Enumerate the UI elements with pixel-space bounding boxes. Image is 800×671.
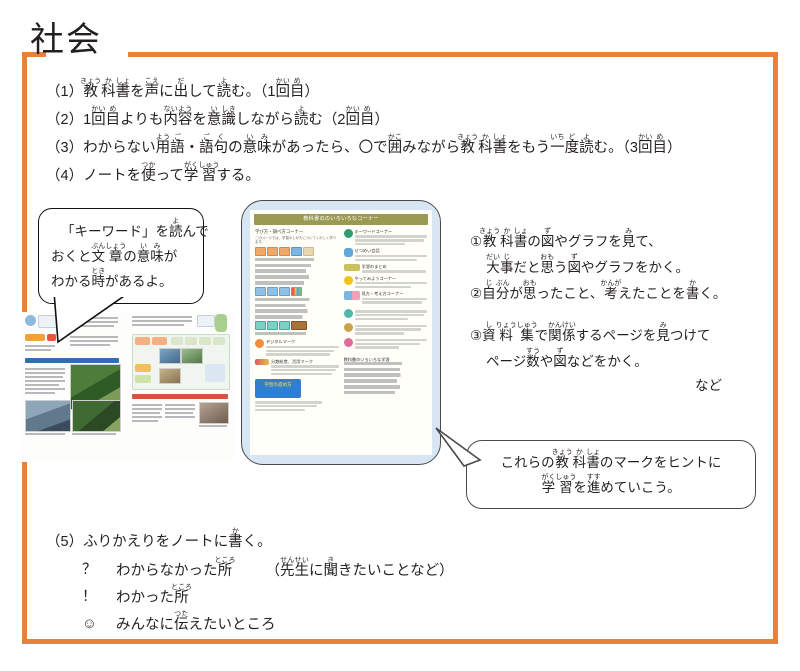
body-text-line [132,316,192,318]
corner-body [271,373,332,375]
tag-row [255,321,339,330]
ruby-kai2: 回かい [91,112,106,128]
ruby-ji2: 自じ [482,286,496,301]
reflection-section: （5）ふりかえりをノートに書かく。 ？ わからなかった所ところ （先せん生せいに… [46,528,606,638]
ruby-nai: 内ない [163,112,178,128]
body-text-line [25,392,55,394]
body-text-line [25,380,65,382]
ruby-shuu: 習しゅう [198,168,216,184]
toc-line [344,385,424,389]
contents-left-column: 学び方・調べ方コーナー このページでは、学習のしかたについてくわしく学べます。 [255,229,339,411]
ruby-ku: 句く [214,140,229,156]
step-line-1: （1）教きょう科か書しょを声こえに出だして読よむ。（1回かい目め） [46,78,760,106]
corner-text [355,309,428,320]
brown-icon [291,321,307,330]
ruby-zu2: 図ず [568,260,582,275]
orange-tag [303,247,314,256]
sdgs-icon [255,359,269,365]
note-line-3b: ページ数すうや図ずなどをかく。 [470,348,770,374]
information-icon [344,338,353,347]
diagram-node [185,337,197,345]
diagram-photo [159,368,181,384]
body-text-line [132,324,184,326]
contents-columns: 学び方・調べ方コーナー このページでは、学習のしかたについてくわしく学べます。 [250,225,432,411]
ruby-shuu3: 習しゅう [555,480,573,495]
corner-item: 分散給食、活用マーク [255,359,339,375]
corner-item: デジタルマーク [255,339,339,355]
ruby-ichi: 一いち [550,140,565,156]
reflection-label-share: みんなに伝つたえたいところ [116,611,276,638]
blue-tag [255,287,266,296]
diagram-node [152,337,167,345]
contents-left-sub: このページでは、学習のしかたについてくわしく学べます。 [255,236,339,245]
corner-body [355,282,428,284]
corner-text: 学習のまとめ [362,264,428,273]
ruby-mi4: 見み [656,328,670,343]
keyword-corner-icon [344,229,353,238]
diagram-node [205,364,225,382]
corner-text: キーワードコーナー [355,229,428,245]
ruby-kanga: 考かんが [603,286,618,301]
ruby-i3: 意い [137,249,151,264]
ruby-shuu2: 集しゅう [517,328,535,343]
reflection-label-understood: わかった所ところ [116,584,192,611]
body-text-line [70,344,110,346]
body-text-line [25,388,65,390]
teacher-illustration [215,314,227,332]
ruby-ka4: 書か [686,286,700,301]
speech-bubble-keyword: 「キーワード」を読よんで おくと文ぶん章しょうの意い味みが わかる時ときがあるよ… [38,208,204,304]
orange-tag [279,247,290,256]
bubble-keyword-line-1: 「キーワード」を読よんで [51,218,193,243]
ruby-i: 意い [207,112,222,128]
reflection-item-question: ？ わからなかった所ところ （先せん生せいに聞ききたいことなど） [46,557,606,584]
ruby-me4: 目め [652,140,667,156]
digital-mark-icon [255,339,264,348]
factory-photo-machine [72,400,121,432]
corner-body [271,365,339,367]
teal-tag [267,321,278,330]
note-marker-2: ② [470,286,482,301]
body-text-line [165,412,193,414]
ruby-tsuka: 使つか [141,168,156,184]
orange-tag [255,247,266,256]
corner-item-yattemiyou: やってみようコーナー [344,276,428,289]
ruby-gaku2: 学がく [541,480,555,495]
diagram-node [135,337,150,345]
callout-chip [197,315,215,327]
corner-body [355,243,406,245]
toc-line [344,391,417,395]
corner-body [266,350,334,352]
ruby-go: 語ご [170,140,185,156]
note-line-3: ③資し料りょう集しゅうで関かん係けいするページを見みつけて [470,322,770,348]
note-marker-3: ③ [470,328,482,343]
ruby-yo2: 読よ [294,112,309,128]
corner-item-shiryou [344,323,428,334]
body-text-line [165,416,195,418]
toc-line [255,315,323,319]
blue-tag [279,287,290,296]
contents-banner: 教科書ののいろいろなコーナー [254,214,428,225]
toc-line [344,362,428,366]
ruby-gaku: 学がく [184,168,199,184]
corner-item-matome: 学習のまとめ [344,264,428,273]
ruby-ji: 事じ [500,260,514,275]
ruby-sho3: 書しょ [514,234,528,249]
frame-border-top-right [128,52,778,57]
diagram-node [199,337,211,345]
orange-tag [291,247,302,256]
ruby-sen: 先せん [280,563,295,579]
interview-photo [199,402,229,424]
corner-body [355,314,425,316]
ruby-yo3: 読よ [579,140,594,156]
reflection-item-understood: ！ わかった所ところ [46,584,606,611]
smiley-face-icon: ☺ [82,611,116,638]
orange-tag [267,247,278,256]
toc-line [255,281,325,285]
ruby-susu: 進すす [587,480,601,495]
corner-text: やってみようコーナー [355,276,428,289]
textbook-spread-right-page [129,312,234,462]
frame-border-bottom [22,639,778,644]
corner-item-setsumei: せつめい会話 [344,248,428,261]
viewpoint-corner-icon [344,291,360,300]
body-text-line [132,408,162,410]
toc-line [255,332,328,336]
contents-sheet: 教科書ののいろいろなコーナー 学び方・調べ方コーナー このページでは、学習のしか… [250,210,432,455]
orange-tag [25,334,45,341]
question-mark-icon: ？ [82,557,116,584]
ruby-me2: 目め [106,112,121,128]
diagram-photo [159,348,181,364]
ruby-ka2: 科か [478,140,493,156]
reflection-label-question: わからなかった所ところ [116,557,236,584]
step-line-3: （3）わからない用よう語ご・語ご句くの意い味みがあったら、〇で囲かこみながら教き… [46,134,760,162]
ruby-dai: 大だい [486,260,500,275]
corner-text [355,323,428,334]
step-line-2: （2）1回かい目めよりも内ない容ようを意い識しきしながら読よむ（2回かい目め） [46,106,760,134]
note-line-1: ①教きょう科か書しょの図ずやグラフを見みて、 [470,228,770,254]
step-number-3: （3） [46,140,83,156]
ruby-kai4: 回かい [638,140,653,156]
diagram-node [171,337,183,345]
ruby-shou: 章しょう [105,249,123,264]
ruby-mi3: 見み [622,234,636,249]
ruby-toki: 時とき [92,274,106,289]
toc-line [255,275,332,279]
body-text-line [132,320,192,322]
corner-body [355,346,400,348]
diagram-node [213,337,225,345]
corner-item-keyword: キーワードコーナー [344,229,428,245]
note-line-etc: など [470,374,770,398]
ruby-shiki: 識しき [221,112,236,128]
chart-icon [291,287,302,296]
corner-title: 学習のまとめ [362,264,428,269]
corner-text: せつめい会話 [355,248,428,261]
section-heading-bar [132,394,228,399]
caption-line [199,425,227,427]
page-title: 社会 [30,20,102,60]
body-text-line [132,420,158,422]
toc-line [255,269,328,273]
corner-body [266,353,330,355]
ruby-kyou: 教きょう [83,84,101,100]
select-icon [344,309,353,318]
step-number-4: （4） [46,168,83,184]
ruby-tokoro: 所ところ [218,563,236,579]
body-text-line [132,416,162,418]
corner-body [355,286,412,288]
corner-text: 見方・考え方コーナー [362,291,428,304]
step-line-4: （4）ノートを使つかって学がく習しゅうする。 [46,162,760,190]
corner-body [355,255,428,257]
textbook-contents-page: 教科書ののいろいろなコーナー 学び方・調べ方コーナー このページでは、学習のしか… [241,200,441,465]
toc-line [344,368,424,372]
section-heading-bar [25,358,119,363]
corner-body [355,325,428,327]
ruby-you: 容よう [178,112,193,128]
blue-tag [267,287,278,296]
corner-body [355,343,420,345]
ruby-tsuta: 伝つた [174,617,189,633]
teal-tag [279,321,290,330]
ruby-kei: 係けい [562,328,576,343]
ruby-kyou3: 教きょう [482,234,500,249]
material-icon [344,323,353,332]
ruby-bun2: 分ぶん [496,286,510,301]
ruby-suu: 数すう [526,354,540,369]
ruby-sho: 書しょ [116,84,131,100]
body-text-line [25,376,63,378]
ruby-sho2: 書しょ [493,140,508,156]
corner-title: キーワードコーナー [355,229,428,234]
notes-list: ①教きょう科か書しょの図ずやグラフを見みて、 大だい事じだと思おもう図ずやグラフ… [470,228,770,398]
student-illustration [25,315,36,326]
speech-bubble-keyword-tail [52,292,132,344]
corner-title: デジタルマーク [266,339,339,344]
conversation-corner-icon [344,248,353,257]
toc-line [255,304,327,308]
corner-item-sentaku [344,309,428,320]
contents-toc-block: 教科書のいろいろな学習 [344,357,428,395]
diagram-node [135,375,151,383]
speech-bubble-marks: これらの教きょう科か書しょのマークをヒントに 学がく習しゅうを進すすめていこう。 [466,440,756,509]
ruby-sei: 生せい [295,563,310,579]
frame-border-right [773,52,778,644]
body-text-line [132,404,162,406]
ruby-yomi: 読よ [169,224,183,239]
corner-item-mikata: 見方・考え方コーナー [344,291,428,304]
toc-line [255,298,333,302]
ruby-shi: 資し [482,328,496,343]
toc-line [255,264,335,268]
badge-caption [255,405,317,407]
corner-body [362,270,426,272]
ruby-zu3: 図ず [553,354,567,369]
ruby-bun: 文ぶん [92,249,106,264]
steps-list: （1）教きょう科か書しょを声こえに出だして読よむ。（1回かい目め） （2）1回か… [46,78,760,190]
reflection-number: （5） [46,534,83,550]
teal-tag [255,321,266,330]
corner-body [355,332,404,334]
exclamation-mark-icon: ！ [82,584,116,611]
note-line-1b: 大だい事じだと思おもう図ずやグラフをかく。 [470,254,770,280]
ruby-da: 出だ [174,84,189,100]
ruby-i2: 意い [243,140,258,156]
corner-title: 見方・考え方コーナー [362,291,428,296]
speech-bubble-marks-tail [434,420,486,468]
ruby-you2: 用よう [156,140,171,156]
ruby-ka3: 科か [500,234,514,249]
note-line-2: ②自じ分ぶんが思おもったこと、考かんがえたことを書かく。 [470,280,770,306]
corner-item-jouhou [344,338,428,349]
ruby-me: 目め [290,84,305,100]
badge-caption [255,401,322,403]
ruby-ka: 科か [101,84,116,100]
ruby-ka5: 科か [573,455,587,470]
corner-body [355,259,417,261]
ruby-kako: 囲かこ [388,140,403,156]
toc-line [255,309,330,313]
body-text-line [165,408,195,410]
body-text-line [25,384,59,386]
corner-body [355,318,409,320]
ruby-kyou4: 教きょう [555,455,573,470]
corner-body [355,310,428,312]
body-text-line [25,368,65,370]
corner-text: 分散給食、活用マーク [271,359,339,375]
corner-body [355,235,428,237]
note-spacer [470,306,770,322]
bubble-keyword-line-2: おくと文ぶん章しょうの意い味みが [51,243,193,268]
corner-body [355,328,422,330]
contents-right-column: キーワードコーナー せつめい会話 [344,229,428,411]
bubble-marks-line-2: 学がく習しゅうを進すすめていこう。 [477,474,745,499]
ruby-go2: 語ご [199,140,214,156]
corner-body [355,339,428,341]
corner-title: 分散給食、活用マーク [271,359,339,364]
ruby-mi2: 味み [150,249,164,264]
diagram-node [135,364,151,372]
toc-line [255,258,339,262]
ruby-kai3: 回かい [345,112,360,128]
caption-line [72,433,116,435]
ruby-ka6: 書か [228,534,243,550]
corner-text: デジタルマーク [266,339,339,355]
toc-line [344,379,421,383]
ruby-koe: 声こえ [145,84,160,100]
learning-method-badge: 学習の進め方 [255,379,301,398]
body-text-line [25,345,55,347]
corner-body [362,298,428,300]
ruby-omo: 思おも [541,260,555,275]
ruby-zu: 図ず [541,234,555,249]
step-number-2: （2） [46,112,83,128]
reflection-heading: （5）ふりかえりをノートに書かく。 [46,528,606,557]
tag-row [255,247,339,256]
corner-title: せつめい会話 [355,248,428,253]
summary-corner-icon [344,264,360,271]
diagram-photo [181,348,203,364]
try-it-corner-icon [344,276,353,285]
corner-text [355,338,428,349]
corner-title: やってみようコーナー [355,276,428,281]
ruby-kyou2: 教きょう [460,140,478,156]
toc-line [344,373,426,377]
ruby-mi: 味み [257,140,272,156]
body-text-line [25,372,65,374]
body-text-line [132,412,160,414]
ruby-ryou: 料りょう [496,328,517,343]
bubble-keyword-line-3: わかる時ときがあるよ。 [51,268,193,293]
body-text-line [165,404,195,406]
corner-body [355,239,425,241]
ruby-me3: 目め [360,112,375,128]
badge-caption [255,409,305,411]
corner-body [362,301,422,303]
bubble-marks-line-1: これらの教きょう科か書しょのマークをヒントに [477,449,745,474]
corner-body [271,369,336,371]
ruby-kai: 回かい [275,84,290,100]
body-text-line [25,349,51,351]
ruby-omo2: 思おも [523,286,537,301]
tag-row [255,287,339,296]
contents-left-heading: 学び方・調べ方コーナー [255,229,339,235]
reflection-note-question: （先せん生せいに聞ききたいことなど） [236,557,454,584]
factory-photo-workers [25,400,71,432]
caption-line [25,433,65,435]
reflection-item-share: ☺ みんなに伝つたえたいところ [46,611,606,638]
ruby-ki: 聞き [324,563,339,579]
ruby-yo: 読よ [217,84,232,100]
ruby-do: 度ど [565,140,580,156]
ruby-tokoro2: 所ところ [174,590,192,606]
ruby-sho4: 書しょ [586,455,600,470]
ruby-kan: 関かん [548,328,562,343]
step-number-1: （1） [46,84,83,100]
corner-body [266,346,339,348]
